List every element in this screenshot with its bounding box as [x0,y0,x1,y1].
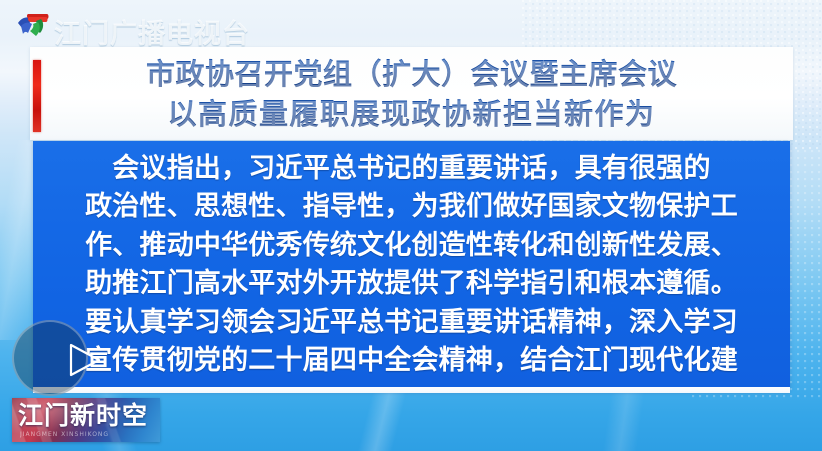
station-logo: 江门广播电视台 [10,8,240,46]
body-text-panel: 会议指出，习近平总书记的重要讲话，具有很强的 政治性、思想性、指导性，为我们做好… [33,141,790,387]
headline-text-block: 市政协召开党组（扩大）会议暨主席会议 以高质量履职展现政协新担当新作为 [30,47,793,140]
body-text-block: 会议指出，习近平总书记的重要讲话，具有很强的 政治性、思想性、指导性，为我们做好… [33,143,790,387]
body-line-3: 作、推动中华优秀传统文化创造性转化和创新性发展、 [85,227,738,266]
video-frame: 江门广播电视台 市政协召开党组（扩大）会议暨主席会议 以高质量履职展现政协新担当… [0,0,822,451]
program-bug-subtitle: JIANGMEN XINSHIKONG [20,431,152,439]
body-line-2: 政治性、思想性、指导性，为我们做好国家文物保护工 [85,188,738,227]
headline-line-2: 以高质量履职展现政协新担当新作为 [167,94,655,134]
body-line-4: 助推江门高水平对外开放提供了科学指引和根本遵循。 [85,265,738,304]
headline-line-1: 市政协召开党组（扩大）会议暨主席会议 [146,54,677,94]
body-line-6: 宣传贯彻党的二十届四中全会精神，结合江门现代化建 [85,342,738,381]
play-button[interactable] [12,320,88,396]
station-logo-text: 江门广播电视台 [54,12,250,42]
play-icon [41,343,69,375]
station-logo-icon [14,10,58,44]
body-panel-underline [33,387,790,393]
body-line-1: 会议指出，习近平总书记的重要讲话，具有很强的 [112,150,710,189]
headline-panel: 市政协召开党组（扩大）会议暨主席会议 以高质量履职展现政协新担当新作为 [30,47,793,140]
body-line-5: 要认真学习领会习近平总书记重要讲话精神，深入学习 [85,304,738,343]
program-bug: 江门新时空 JIANGMEN XINSHIKONG [12,398,160,442]
program-bug-title: 江门新时空 [18,401,158,431]
